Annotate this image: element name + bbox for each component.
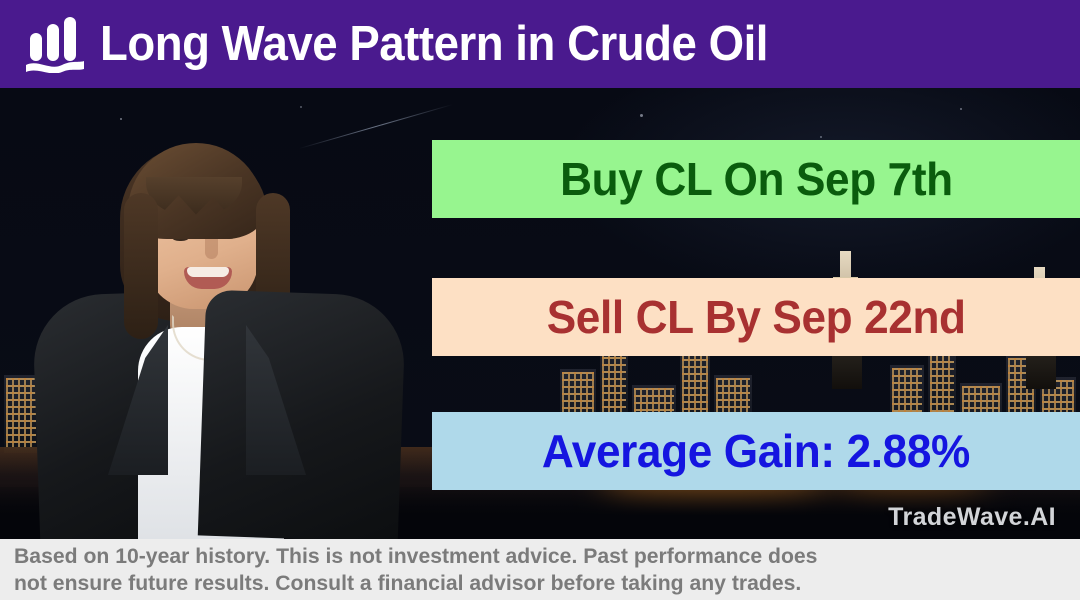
sell-signal-text: Sell CL By Sep 22nd [547, 290, 966, 344]
disclaimer-line-1: Based on 10-year history. This is not in… [14, 543, 1050, 569]
average-gain-text: Average Gain: 2.88% [542, 424, 970, 478]
page-title: Long Wave Pattern in Crude Oil [100, 16, 768, 72]
average-gain-banner: Average Gain: 2.88% [432, 412, 1080, 490]
star-icon [640, 114, 643, 117]
buy-signal-text: Buy CL On Sep 7th [560, 152, 953, 206]
buy-signal-banner: Buy CL On Sep 7th [432, 140, 1080, 218]
header-bar: Long Wave Pattern in Crude Oil [0, 0, 1080, 88]
trade-signal-card: Long Wave Pattern in Crude Oil Buy CL On… [0, 0, 1080, 600]
coat-right [198, 290, 406, 539]
nose [205, 239, 218, 259]
star-icon [960, 108, 962, 110]
star-icon [300, 106, 302, 108]
person-photo-subject [42, 119, 372, 539]
disclaimer-bar: Based on 10-year history. This is not in… [0, 539, 1080, 600]
hair-side [124, 193, 158, 339]
star-icon [820, 136, 822, 138]
bar-chart-wave-logo-icon [24, 15, 86, 73]
brand-watermark: TradeWave.AI [888, 503, 1056, 532]
disclaimer-line-2: not ensure future results. Consult a fin… [14, 570, 1050, 596]
sell-signal-banner: Sell CL By Sep 22nd [432, 278, 1080, 356]
